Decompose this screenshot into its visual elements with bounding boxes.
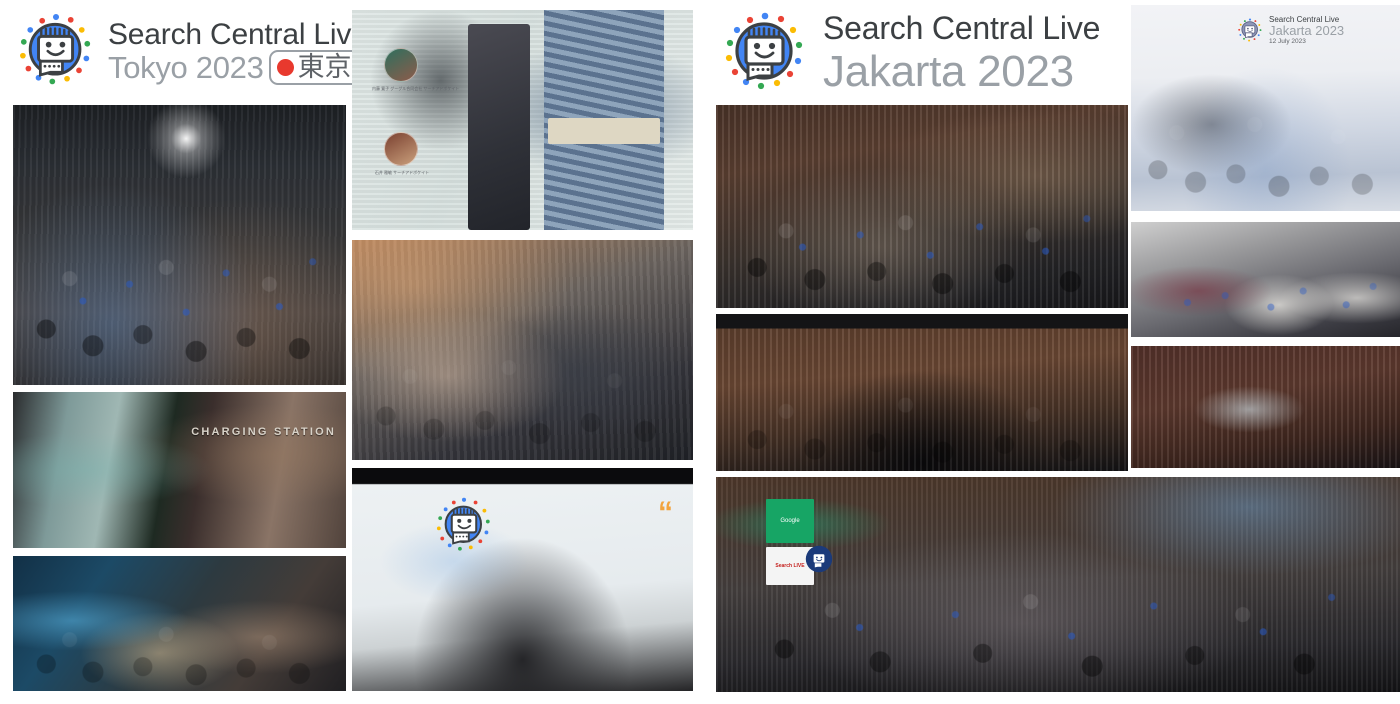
googlebot-mascot-logo-icon [715,4,815,104]
stage-screen-googlebot-mascot-icon [430,492,498,562]
photo-jakarta-panel-discussion: Five panelists seated in black armchairs… [716,314,1128,471]
photo-jakarta-full-group: Google Search LIVE Full event group phot… [716,477,1400,692]
photo-tokyo-stage-yukata: 内藤 寛子 グーグル合同会社 サーチアドボケイト 石井 雅敏 サーチアドボケイト… [352,10,693,230]
collage-page: Search Central Live Tokyo 2023 東京 Large … [0,0,1400,704]
event-title-primary: Search Central Live [108,19,368,51]
photo-wall-title-city-year: Jakarta 2023 [1269,24,1344,38]
photo-tokyo-social-reception: Attendees chatting with drinks at evenin… [13,556,346,691]
photo-tokyo-heart-hands: Two attendees forming a heart shape with… [352,240,693,460]
tokyo-japanese-badge: 東京 [269,50,361,85]
photo-tokyo-charging-station: CHARGING STATION Attendees networking ne… [13,392,346,548]
photo-jakarta-photo-wall: Search Central Live Jakarta 2023 12 July… [1131,5,1400,211]
podium-googlebot-mascot-icon [804,543,834,575]
tokyo-kanji-label: 東京 [298,53,352,81]
charging-station-sign-text: CHARGING STATION [191,426,336,438]
photo-tokyo-audience-group: Large seated audience in conference hall… [13,105,346,385]
speaker-chip-caption-2: 石井 雅敏 サーチアドボケイト [372,170,432,175]
speaker-chip-caption-1: 内藤 寛子 グーグル合同会社 サーチアドボケイト [372,86,432,91]
event-title-city-year: Tokyo 2023 [108,51,264,85]
photo-jakarta-audience-cheering: Audience members smiling and waving in a… [716,105,1128,308]
event-title-primary: Search Central Live [823,12,1100,46]
event-title-city-year: Jakarta 2023 [823,48,1074,96]
photo-jakarta-attendee-mic: Attendee standing with microphone asking… [1131,346,1400,468]
photo-wall-event-date: 12 July 2023 [1269,39,1344,46]
stage-screen-quote-mark-icon: “ [658,502,671,523]
japan-flag-circle-icon [277,59,294,76]
photo-jakarta-tote-bags: Four attendees holding Search Central Li… [1131,222,1400,337]
event-title-block-tokyo: Search Central Live Tokyo 2023 東京 [108,19,368,86]
photo-wall-googlebot-mascot-icon [1235,16,1265,46]
event-section-tokyo: Search Central Live Tokyo 2023 東京 Large … [0,0,696,704]
podium-google-sign: Google [766,499,814,543]
googlebot-mascot-logo-icon [10,6,102,98]
speaker-avatar-chip-2 [384,132,418,166]
photo-wall-event-banner: Search Central Live Jakarta 2023 12 July… [1235,16,1344,46]
event-title-block-jakarta: Search Central Live Jakarta 2023 [823,12,1100,96]
event-header-tokyo: Search Central Live Tokyo 2023 東京 [10,6,368,98]
photo-tokyo-panel-discussion: “ Four panelists seated on stage with Go… [352,468,693,691]
event-section-jakarta: Search Central Live Jakarta 2023 Audienc… [710,0,1400,704]
speaker-avatar-chip-1 [384,48,418,82]
event-header-jakarta: Search Central Live Jakarta 2023 [715,4,1100,104]
